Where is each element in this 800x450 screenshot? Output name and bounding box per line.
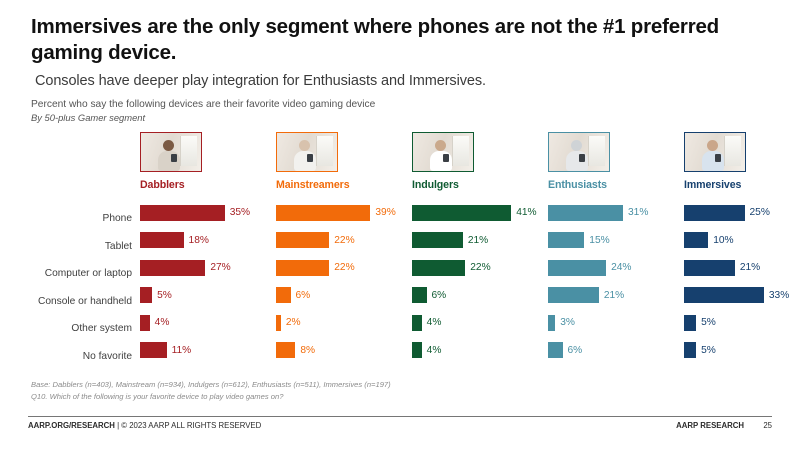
- bar: [684, 260, 735, 276]
- bar-value-label: 39%: [375, 207, 395, 218]
- bar-row: 4%: [412, 309, 545, 337]
- bar-value-label: 4%: [155, 317, 170, 328]
- bar: [412, 287, 427, 303]
- bar: [140, 260, 205, 276]
- bar-row: 8%: [276, 337, 409, 365]
- bar-row: 3%: [548, 309, 681, 337]
- bar: [684, 205, 745, 221]
- segment-photo-enthusiasts: [548, 132, 610, 172]
- bar-row: 4%: [412, 337, 545, 365]
- bar-value-label: 15%: [589, 235, 609, 246]
- bar: [684, 315, 696, 331]
- bar: [276, 260, 329, 276]
- bar-row: 41%: [412, 199, 545, 227]
- bar-value-label: 21%: [740, 262, 760, 273]
- bar-value-label: 35%: [230, 207, 250, 218]
- bar-row: 21%: [684, 254, 800, 282]
- segment-column-immersives: Immersives25%10%21%33%5%5%: [681, 132, 800, 364]
- segment-column-dabblers: Dabblers35%18%27%5%4%11%: [137, 132, 273, 364]
- bar: [276, 342, 295, 358]
- bar-value-label: 6%: [432, 290, 447, 301]
- bar-row: 5%: [684, 309, 800, 337]
- bar-row: 22%: [276, 254, 409, 282]
- bar-value-label: 4%: [427, 317, 442, 328]
- bar-value-label: 21%: [468, 235, 488, 246]
- bar-row: 24%: [548, 254, 681, 282]
- bar-value-label: 41%: [516, 207, 536, 218]
- bar-value-label: 8%: [300, 345, 315, 356]
- footer-site: AARP.ORG/RESEARCH: [28, 421, 115, 430]
- slide: Immersives are the only segment where ph…: [0, 0, 800, 450]
- bar: [548, 260, 606, 276]
- bar-group-enthusiasts: 31%15%24%21%3%6%: [548, 199, 681, 364]
- category-label: No favorite: [0, 346, 135, 374]
- bar-row: 4%: [140, 309, 273, 337]
- category-label: Phone: [0, 208, 135, 236]
- bar: [276, 205, 370, 221]
- page-title: Immersives are the only segment where ph…: [31, 14, 751, 66]
- bar: [548, 232, 584, 248]
- bar: [276, 232, 329, 248]
- segment-photo-indulgers: [412, 132, 474, 172]
- bar-value-label: 11%: [172, 345, 192, 356]
- bar-row: 25%: [684, 199, 800, 227]
- bar-row: 27%: [140, 254, 273, 282]
- bar-row: 22%: [412, 254, 545, 282]
- bar: [140, 342, 167, 358]
- bar-value-label: 4%: [427, 345, 442, 356]
- bar-group-dabblers: 35%18%27%5%4%11%: [140, 199, 273, 364]
- bar-value-label: 24%: [611, 262, 631, 273]
- bar-value-label: 3%: [560, 317, 575, 328]
- segment-label-mainstreamers: Mainstreamers: [276, 179, 409, 191]
- bar-value-label: 22%: [470, 262, 490, 273]
- bar-row: 21%: [548, 282, 681, 310]
- bar: [140, 232, 184, 248]
- bar-value-label: 5%: [701, 345, 716, 356]
- bar-value-label: 6%: [296, 290, 311, 301]
- footer-rights: | © 2023 AARP ALL RIGHTS RESERVED: [115, 421, 261, 430]
- bar-value-label: 6%: [568, 345, 583, 356]
- bar: [412, 205, 511, 221]
- bar-row: 11%: [140, 337, 273, 365]
- page-number: 25: [763, 421, 772, 430]
- bar-row: 6%: [548, 337, 681, 365]
- base-note: Base: Dabblers (n=403), Mainstream (n=93…: [31, 379, 391, 391]
- footer-brand: AARP RESEARCH: [676, 421, 744, 430]
- bar-row: 5%: [140, 282, 273, 310]
- category-label: Tablet: [0, 236, 135, 264]
- category-label: Computer or laptop: [0, 263, 135, 291]
- bar: [684, 342, 696, 358]
- bar-row: 33%: [684, 282, 800, 310]
- segment-column-indulgers: Indulgers41%21%22%6%4%4%: [409, 132, 545, 364]
- bar-value-label: 22%: [334, 235, 354, 246]
- segment-label-dabblers: Dabblers: [140, 179, 273, 191]
- bar-value-label: 31%: [628, 207, 648, 218]
- bar-value-label: 22%: [334, 262, 354, 273]
- segment-label-indulgers: Indulgers: [412, 179, 545, 191]
- bar: [140, 315, 150, 331]
- bar-row: 15%: [548, 227, 681, 255]
- segment-photo-immersives: [684, 132, 746, 172]
- bar: [412, 232, 463, 248]
- bar-group-indulgers: 41%21%22%6%4%4%: [412, 199, 545, 364]
- segment-column-mainstreamers: Mainstreamers39%22%22%6%2%8%: [273, 132, 409, 364]
- bar-value-label: 10%: [713, 235, 733, 246]
- bar: [276, 287, 291, 303]
- bar-row: 21%: [412, 227, 545, 255]
- bar: [548, 342, 563, 358]
- bar-group-immersives: 25%10%21%33%5%5%: [684, 199, 800, 364]
- bar: [548, 287, 599, 303]
- chart-descriptor: Percent who say the following devices ar…: [31, 99, 375, 110]
- bar-row: 10%: [684, 227, 800, 255]
- bar: [548, 315, 555, 331]
- category-label: Console or handheld: [0, 291, 135, 319]
- segment-label-enthusiasts: Enthusiasts: [548, 179, 681, 191]
- bar-value-label: 2%: [286, 317, 301, 328]
- bar-value-label: 5%: [701, 317, 716, 328]
- bar: [412, 315, 422, 331]
- grouped-bar-chart: Phone Tablet Computer or laptop Console …: [0, 132, 800, 372]
- bar-value-label: 27%: [210, 262, 230, 273]
- bar: [684, 232, 708, 248]
- bar-row: 2%: [276, 309, 409, 337]
- bar-value-label: 5%: [157, 290, 172, 301]
- category-label: Other system: [0, 318, 135, 346]
- question-note: Q10. Which of the following is your favo…: [31, 391, 391, 403]
- footer-divider: [28, 416, 772, 417]
- bar-row: 22%: [276, 227, 409, 255]
- page-subtitle: Consoles have deeper play integration fo…: [35, 73, 486, 89]
- bar: [140, 205, 225, 221]
- bar-value-label: 21%: [604, 290, 624, 301]
- bar: [412, 342, 422, 358]
- category-axis-labels: Phone Tablet Computer or laptop Console …: [0, 208, 135, 373]
- bar: [276, 315, 281, 331]
- bar-group-mainstreamers: 39%22%22%6%2%8%: [276, 199, 409, 364]
- segment-label-immersives: Immersives: [684, 179, 800, 191]
- bar-value-label: 25%: [750, 207, 770, 218]
- chart-descriptor-segment: By 50-plus Gamer segment: [31, 112, 145, 123]
- segment-column-enthusiasts: Enthusiasts31%15%24%21%3%6%: [545, 132, 681, 364]
- source-notes: Base: Dabblers (n=403), Mainstream (n=93…: [31, 379, 391, 404]
- bar-row: 6%: [412, 282, 545, 310]
- bar: [684, 287, 764, 303]
- bar: [412, 260, 465, 276]
- footer-copyright: AARP.ORG/RESEARCH | © 2023 AARP ALL RIGH…: [28, 421, 261, 430]
- bar-row: 31%: [548, 199, 681, 227]
- bar-row: 35%: [140, 199, 273, 227]
- bar-value-label: 33%: [769, 290, 789, 301]
- bar-row: 6%: [276, 282, 409, 310]
- bar: [548, 205, 623, 221]
- bar-row: 39%: [276, 199, 409, 227]
- segment-photo-mainstreamers: [276, 132, 338, 172]
- bar-value-label: 18%: [189, 235, 209, 246]
- bar: [140, 287, 152, 303]
- bar-row: 5%: [684, 337, 800, 365]
- bar-row: 18%: [140, 227, 273, 255]
- segment-photo-dabblers: [140, 132, 202, 172]
